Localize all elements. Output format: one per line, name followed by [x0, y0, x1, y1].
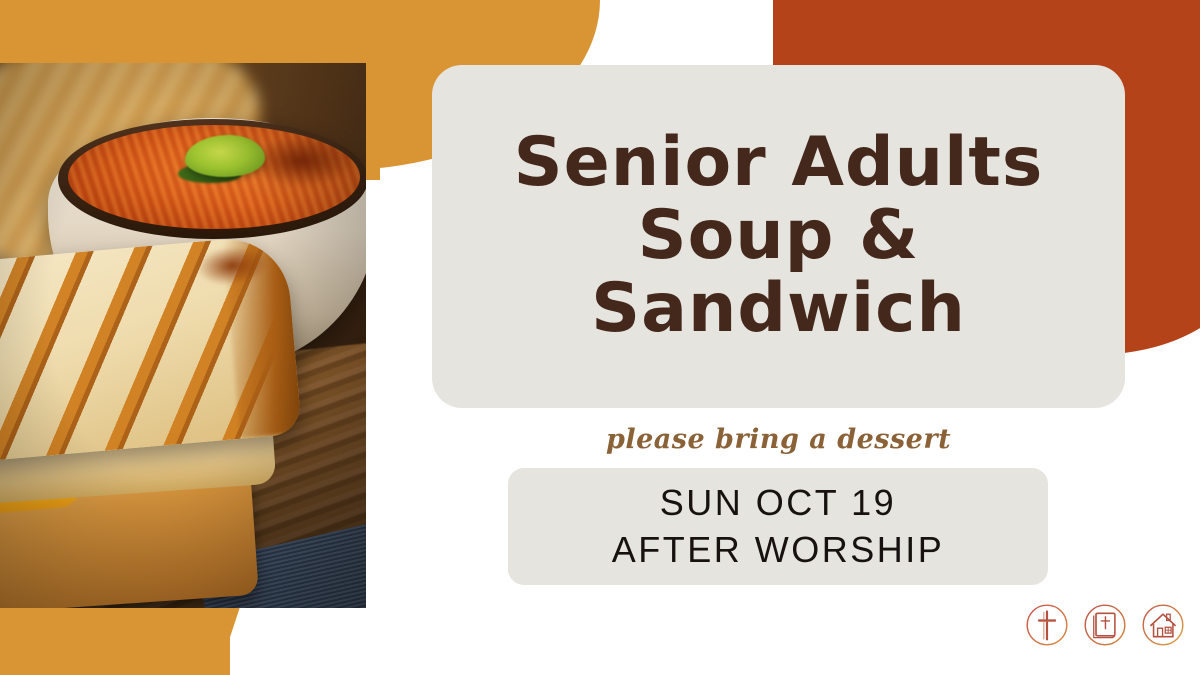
title-card: Senior Adults Soup & Sandwich [432, 65, 1125, 408]
title-line-1: Senior Adults [514, 128, 1044, 199]
date-line-1: SUN OCT 19 [660, 482, 896, 524]
poster-canvas: Senior Adults Soup & Sandwich please bri… [0, 0, 1200, 675]
icon-row [1020, 598, 1190, 652]
cross-icon [1020, 598, 1074, 652]
title-line-2: Soup & [638, 201, 920, 272]
church-house-icon [1136, 598, 1190, 652]
food-photo [0, 63, 366, 608]
bible-icon [1078, 598, 1132, 652]
title-line-3: Sandwich [591, 274, 966, 345]
photo-sandwich-top [0, 234, 302, 464]
photo-char-spot [196, 244, 269, 288]
subtitle-please-bring-a-dessert: please bring a dessert [432, 424, 1125, 455]
date-line-2: AFTER WORSHIP [612, 529, 945, 571]
date-card: SUN OCT 19 AFTER WORSHIP [508, 468, 1048, 585]
